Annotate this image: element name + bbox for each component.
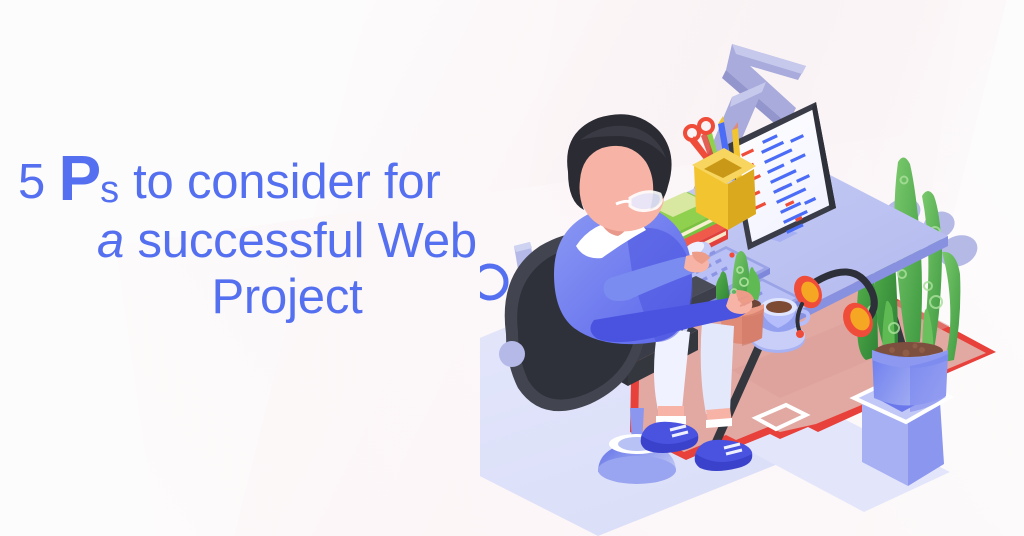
headline-count: 5 [18,155,58,209]
isometric-developer-illustration [480,20,1024,536]
headline-big-p: P [58,142,100,214]
banner-root: 5 Ps to consider for a successful Web Pr… [0,0,1024,536]
headline-line-1-suffix: to consider for [120,155,441,209]
headline-line-2-rest: successful Web [124,214,477,268]
decorative-ring [480,266,506,298]
headline-article: a [97,214,124,268]
headline-small-s: s [100,169,120,211]
